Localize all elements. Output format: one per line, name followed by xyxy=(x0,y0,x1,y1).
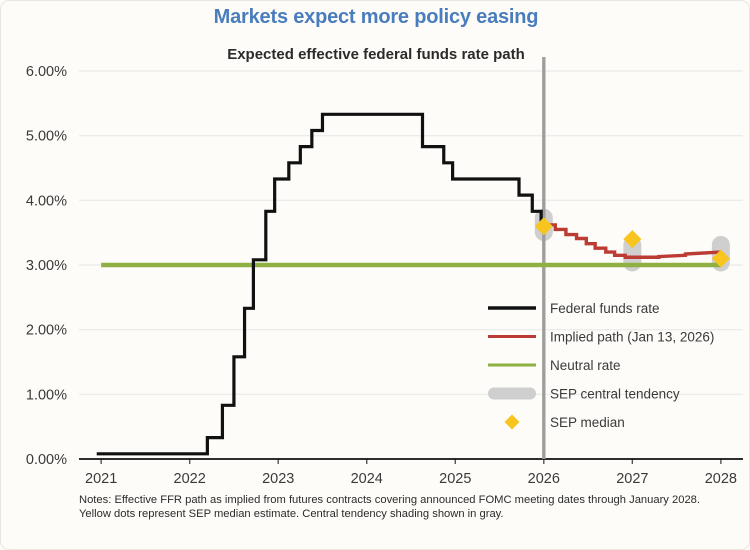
y-tick-label: 2.00% xyxy=(26,323,67,339)
chart-plot-area: 0.00%1.00%2.00%3.00%4.00%5.00%6.00% 2021… xyxy=(1,1,750,550)
x-tick-label: 2027 xyxy=(616,471,648,487)
x-tick-label: 2028 xyxy=(705,471,737,487)
y-axis-tick-labels: 0.00%1.00%2.00%3.00%4.00%5.00%6.00% xyxy=(26,64,67,468)
y-tick-label: 3.00% xyxy=(26,258,67,274)
x-tick-label: 2022 xyxy=(174,471,206,487)
x-tick-label: 2021 xyxy=(85,471,117,487)
y-tick-label: 4.00% xyxy=(26,193,67,209)
x-tick-label: 2025 xyxy=(439,471,471,487)
x-axis-tick-labels: 20212022202320242025202620272028 xyxy=(85,471,737,487)
x-tick-label: 2026 xyxy=(528,471,560,487)
legend-label: Neutral rate xyxy=(550,358,621,373)
legend-label: SEP central tendency xyxy=(550,387,680,402)
legend-label: Federal funds rate xyxy=(550,301,660,316)
x-tick-label: 2024 xyxy=(351,471,383,487)
legend-label: Implied path (Jan 13, 2026) xyxy=(550,330,714,345)
chart-notes: Notes: Effective FFR path as implied fro… xyxy=(79,493,734,522)
y-tick-label: 0.00% xyxy=(26,452,67,468)
legend-label: SEP median xyxy=(550,415,625,430)
y-tick-label: 5.00% xyxy=(26,129,67,145)
chart-legend: Federal funds rateImplied path (Jan 13, … xyxy=(488,301,714,430)
gridlines xyxy=(79,71,743,394)
y-tick-label: 6.00% xyxy=(26,64,67,80)
chart-figure: Markets expect more policy easing Expect… xyxy=(0,0,750,550)
federal-funds-rate-line xyxy=(97,114,544,454)
x-tick-label: 2023 xyxy=(262,471,294,487)
y-tick-label: 1.00% xyxy=(26,387,67,403)
